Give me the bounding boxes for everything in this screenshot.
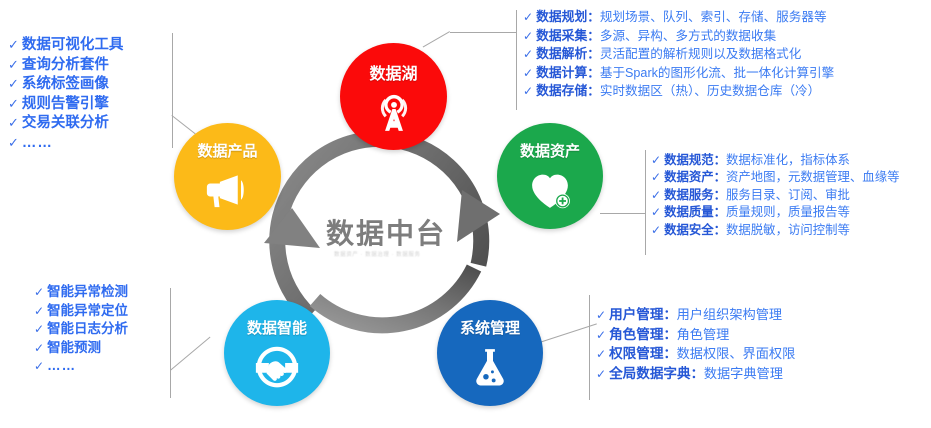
- list-item-value: 多源、异构、多方式的数据收集: [600, 28, 776, 46]
- panel-data-assets: ✓数据规范：数据标准化，指标体系✓数据资产：资产地图，元数据管理、血缘等✓数据服…: [651, 152, 926, 239]
- list-item: ✓权限管理：数据权限、界面权限: [596, 344, 926, 364]
- list-item-value: 数据权限、界面权限: [677, 344, 796, 364]
- list-item-separator: ：: [587, 46, 600, 64]
- list-item-key: 数据安全: [664, 222, 714, 239]
- arrowhead-right: [457, 190, 500, 242]
- list-item-separator: ：: [714, 222, 726, 239]
- list-item: ✓……: [8, 134, 168, 154]
- check-icon: ✓: [34, 286, 44, 298]
- list-item-key: 数据规范: [664, 152, 714, 169]
- connector-bar-data-products: [172, 33, 173, 148]
- list-item-value: 资产地图，元数据管理、血缘等: [726, 169, 899, 186]
- check-icon: ✓: [34, 342, 44, 354]
- list-item: ✓智能异常定位: [34, 302, 194, 321]
- check-icon: ✓: [523, 11, 533, 23]
- list-item-key: 数据服务: [664, 187, 714, 204]
- node-data-assets[interactable]: 数据资产: [497, 123, 603, 229]
- list-item-key: 用户管理: [609, 305, 663, 325]
- connector-bar-data-lake: [516, 10, 517, 110]
- list-item-key: 数据质量: [664, 204, 714, 221]
- node-system-management[interactable]: 系统管理: [437, 300, 543, 406]
- list-item: ✓……: [34, 357, 194, 376]
- center-title: 数据中台: [326, 212, 446, 252]
- list-item-key: ……: [22, 134, 53, 154]
- list-item-key: 智能异常定位: [47, 302, 128, 321]
- list-item-separator: ：: [691, 364, 704, 384]
- check-icon: ✓: [34, 323, 44, 335]
- list-item-separator: ：: [587, 83, 600, 101]
- list-item-key: 权限管理: [609, 344, 663, 364]
- list-item-value: 数据标准化，指标体系: [726, 152, 850, 169]
- check-icon: ✓: [523, 67, 533, 79]
- list-item-key: 智能预测: [47, 339, 101, 358]
- list-item-separator: ：: [663, 305, 676, 325]
- check-icon: ✓: [596, 348, 606, 360]
- list-item-value: 角色管理: [677, 325, 730, 345]
- list-item-separator: ：: [714, 204, 726, 221]
- heart-plus-icon: [524, 164, 576, 216]
- list-item: ✓智能预测: [34, 339, 194, 358]
- list-item: ✓角色管理：角色管理: [596, 325, 926, 345]
- check-icon: ✓: [651, 171, 661, 183]
- list-item-key: 智能日志分析: [47, 320, 128, 339]
- list-item-key: 数据资产: [664, 169, 714, 186]
- check-icon: ✓: [34, 360, 44, 372]
- list-item: ✓数据可视化工具: [8, 36, 168, 56]
- list-item-key: 数据规划: [536, 8, 587, 26]
- list-item: ✓全局数据字典：数据字典管理: [596, 364, 926, 384]
- list-item: ✓数据采集：多源、异构、多方式的数据收集: [523, 27, 923, 46]
- list-item-separator: ：: [714, 187, 726, 204]
- list-item: ✓数据存储：实时数据区（热）、历史数据仓库（冷）: [523, 82, 923, 101]
- connector-bar-system-management: [589, 295, 590, 400]
- panel-data-lake: ✓数据规划：规划场景、队列、索引、存储、服务器等✓数据采集：多源、异构、多方式的…: [523, 8, 923, 101]
- list-item-separator: ：: [714, 152, 726, 169]
- check-icon: ✓: [651, 206, 661, 218]
- node-label: 数据资产: [520, 140, 580, 161]
- radio-tower-icon: [368, 87, 420, 139]
- panel-system-management: ✓用户管理：用户组织架构管理✓角色管理：角色管理✓权限管理：数据权限、界面权限✓…: [596, 305, 926, 383]
- list-item-separator: ：: [714, 169, 726, 186]
- connector-bar-data-assets: [645, 150, 646, 255]
- list-item-value: 实时数据区（热）、历史数据仓库（冷）: [600, 83, 820, 101]
- list-item-value: 数据脱敏，访问控制等: [726, 222, 850, 239]
- list-item-value: 灵活配置的解析规则以及数据格式化: [600, 46, 802, 64]
- megaphone-icon: [202, 164, 254, 216]
- check-icon: ✓: [651, 189, 661, 201]
- check-icon: ✓: [8, 137, 19, 150]
- list-item: ✓用户管理：用户组织架构管理: [596, 305, 926, 325]
- check-icon: ✓: [523, 30, 533, 42]
- list-item: ✓智能异常检测: [34, 283, 194, 302]
- check-icon: ✓: [596, 329, 606, 341]
- list-item-key: ……: [47, 357, 76, 376]
- list-item: ✓交易关联分析: [8, 114, 168, 134]
- list-item: ✓规则告警引擎: [8, 95, 168, 115]
- list-item-key: 数据计算: [536, 64, 587, 82]
- list-item-value: 用户组织架构管理: [677, 305, 783, 325]
- list-item-separator: ：: [663, 344, 676, 364]
- check-icon: ✓: [596, 309, 606, 321]
- list-item-key: 角色管理: [609, 325, 663, 345]
- list-item: ✓查询分析套件: [8, 56, 168, 76]
- check-icon: ✓: [8, 117, 19, 130]
- node-label: 数据智能: [247, 317, 307, 338]
- list-item: ✓数据规划：规划场景、队列、索引、存储、服务器等: [523, 8, 923, 27]
- check-icon: ✓: [8, 98, 19, 111]
- list-item: ✓数据安全：数据脱敏，访问控制等: [651, 222, 926, 239]
- center-subtitle: 数据资产 · 数据治理 · 数据服务: [334, 250, 421, 258]
- list-item: ✓数据资产：资产地图，元数据管理、血缘等: [651, 169, 926, 186]
- check-icon: ✓: [651, 154, 661, 166]
- list-item: ✓系统标签画像: [8, 75, 168, 95]
- list-item-key: 全局数据字典: [609, 364, 691, 384]
- list-item-key: 规则告警引擎: [22, 95, 109, 115]
- connector-line-data-assets: [600, 213, 645, 214]
- list-item-key: 数据解析: [536, 45, 587, 63]
- list-item-key: 数据可视化工具: [22, 36, 124, 56]
- node-label: 系统管理: [460, 317, 520, 338]
- list-item-separator: ：: [587, 65, 600, 83]
- list-item-value: 服务目录、订阅、审批: [726, 187, 850, 204]
- list-item-key: 系统标签画像: [22, 75, 109, 95]
- list-item-separator: ：: [587, 28, 600, 46]
- list-item-value: 基于Spark的图形化流、批一体化计算引擎: [600, 65, 834, 83]
- list-item: ✓数据解析：灵活配置的解析规则以及数据格式化: [523, 45, 923, 64]
- list-item-key: 数据采集: [536, 27, 587, 45]
- check-icon: ✓: [523, 85, 533, 97]
- check-icon: ✓: [8, 78, 19, 91]
- list-item-value: 规划场景、队列、索引、存储、服务器等: [600, 9, 827, 27]
- check-icon: ✓: [8, 39, 19, 52]
- list-item-key: 查询分析套件: [22, 56, 109, 76]
- check-icon: ✓: [8, 59, 19, 72]
- check-icon: ✓: [34, 305, 44, 317]
- list-item: ✓数据服务：服务目录、订阅、审批: [651, 187, 926, 204]
- node-label: 数据产品: [197, 140, 257, 161]
- list-item: ✓数据规范：数据标准化，指标体系: [651, 152, 926, 169]
- list-item-key: 交易关联分析: [22, 114, 109, 134]
- list-item: ✓数据质量：质量规则，质量报告等: [651, 204, 926, 221]
- list-item: ✓智能日志分析: [34, 320, 194, 339]
- list-item: ✓数据计算：基于Spark的图形化流、批一体化计算引擎: [523, 64, 923, 83]
- panel-data-intelligence: ✓智能异常检测✓智能异常定位✓智能日志分析✓智能预测✓……: [34, 283, 194, 376]
- connector-line-data-lake-h: [450, 32, 516, 33]
- diagram-canvas: ✓数据可视化工具✓查询分析套件✓系统标签画像✓规则告警引擎✓交易关联分析✓…… …: [0, 0, 931, 428]
- node-data-lake[interactable]: 数据湖: [340, 43, 447, 150]
- check-icon: ✓: [596, 368, 606, 380]
- check-icon: ✓: [651, 224, 661, 236]
- list-item-key: 数据存储: [536, 82, 587, 100]
- arrowhead-left: [264, 208, 320, 248]
- panel-data-products: ✓数据可视化工具✓查询分析套件✓系统标签画像✓规则告警引擎✓交易关联分析✓……: [8, 36, 168, 153]
- list-item-separator: ：: [587, 9, 600, 27]
- check-icon: ✓: [523, 48, 533, 60]
- list-item-separator: ：: [663, 325, 676, 345]
- list-item-value: 质量规则，质量报告等: [726, 204, 850, 221]
- handshake-icon: [251, 341, 303, 393]
- list-item-value: 数据字典管理: [704, 364, 783, 384]
- node-label: 数据湖: [369, 60, 417, 84]
- list-item-key: 智能异常检测: [47, 283, 128, 302]
- node-data-products[interactable]: 数据产品: [174, 123, 281, 230]
- node-data-intelligence[interactable]: 数据智能: [224, 300, 330, 406]
- flask-icon: [464, 341, 516, 393]
